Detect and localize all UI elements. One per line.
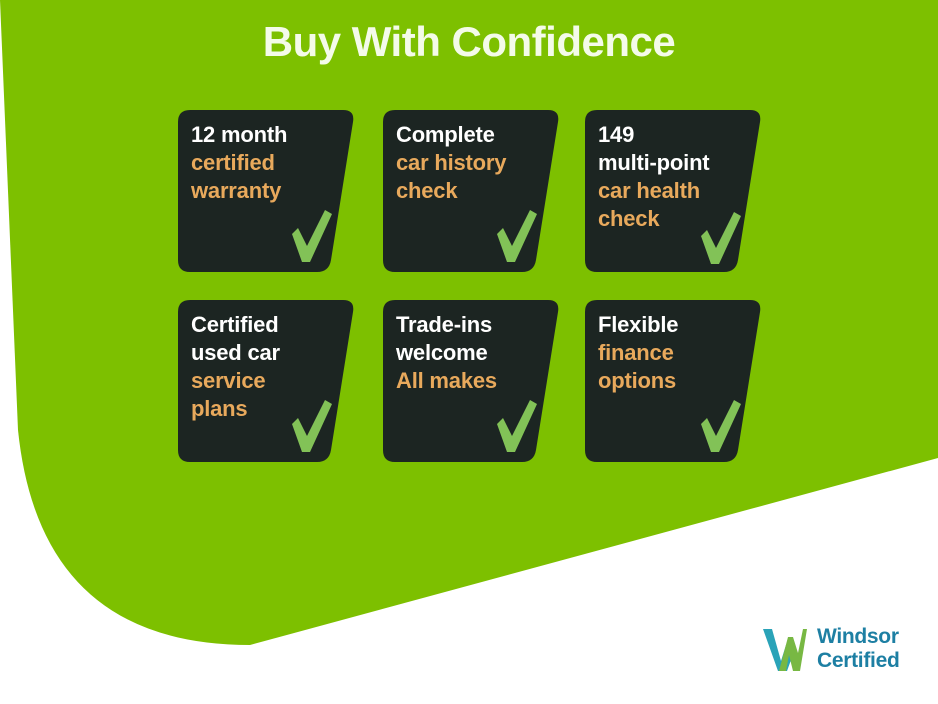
benefit-card[interactable]: 149 multi-point car health check [585,110,762,272]
card-text: Trade-ins welcome All makes [396,311,548,395]
card-heading-line: Trade-ins [396,311,548,339]
card-heading-line: used car [191,339,343,367]
logo-wordmark: Windsor Certified [817,625,899,673]
check-icon [493,208,539,264]
card-heading-line: 149 [598,121,750,149]
page-title: Buy With Confidence [0,16,938,68]
card-heading-line: Certified [191,311,343,339]
benefits-row-1: 12 month certified warranty Com [178,110,778,300]
card-heading-line: multi-point [598,149,750,177]
check-icon [697,398,743,454]
card-accent-line: options [598,367,750,395]
check-icon [697,210,743,266]
benefit-card[interactable]: Flexible finance options [585,300,762,462]
card-text: Flexible finance options [598,311,750,395]
check-icon [288,208,334,264]
windsor-certified-logo[interactable]: Windsor Certified [762,625,899,673]
benefits-grid: 12 month certified warranty Com [178,110,778,490]
card-text: Complete car history check [396,121,548,205]
card-accent-line: warranty [191,177,343,205]
check-icon [493,398,539,454]
benefit-card[interactable]: Certified used car service plans [178,300,355,462]
benefit-card[interactable]: Complete car history check [383,110,560,272]
benefit-card[interactable]: Trade-ins welcome All makes [383,300,560,462]
card-heading-line: Flexible [598,311,750,339]
windsor-w-icon [762,627,808,671]
card-accent-line: car health [598,177,750,205]
card-accent-line: certified [191,149,343,177]
card-heading-line: Complete [396,121,548,149]
card-accent-line: check [396,177,548,205]
card-accent-line: finance [598,339,750,367]
card-heading-line: 12 month [191,121,343,149]
check-icon [288,398,334,454]
card-heading-line: welcome [396,339,548,367]
benefits-row-2: Certified used car service plans [178,300,778,490]
card-accent-line: car history [396,149,548,177]
benefit-card[interactable]: 12 month certified warranty [178,110,355,272]
card-text: 12 month certified warranty [191,121,343,205]
logo-line-1: Windsor [817,625,899,649]
logo-line-2: Certified [817,649,899,673]
card-accent-line: service [191,367,343,395]
card-accent-line: All makes [396,367,548,395]
slide-canvas: Buy With Confidence 12 month certified w… [0,0,938,704]
